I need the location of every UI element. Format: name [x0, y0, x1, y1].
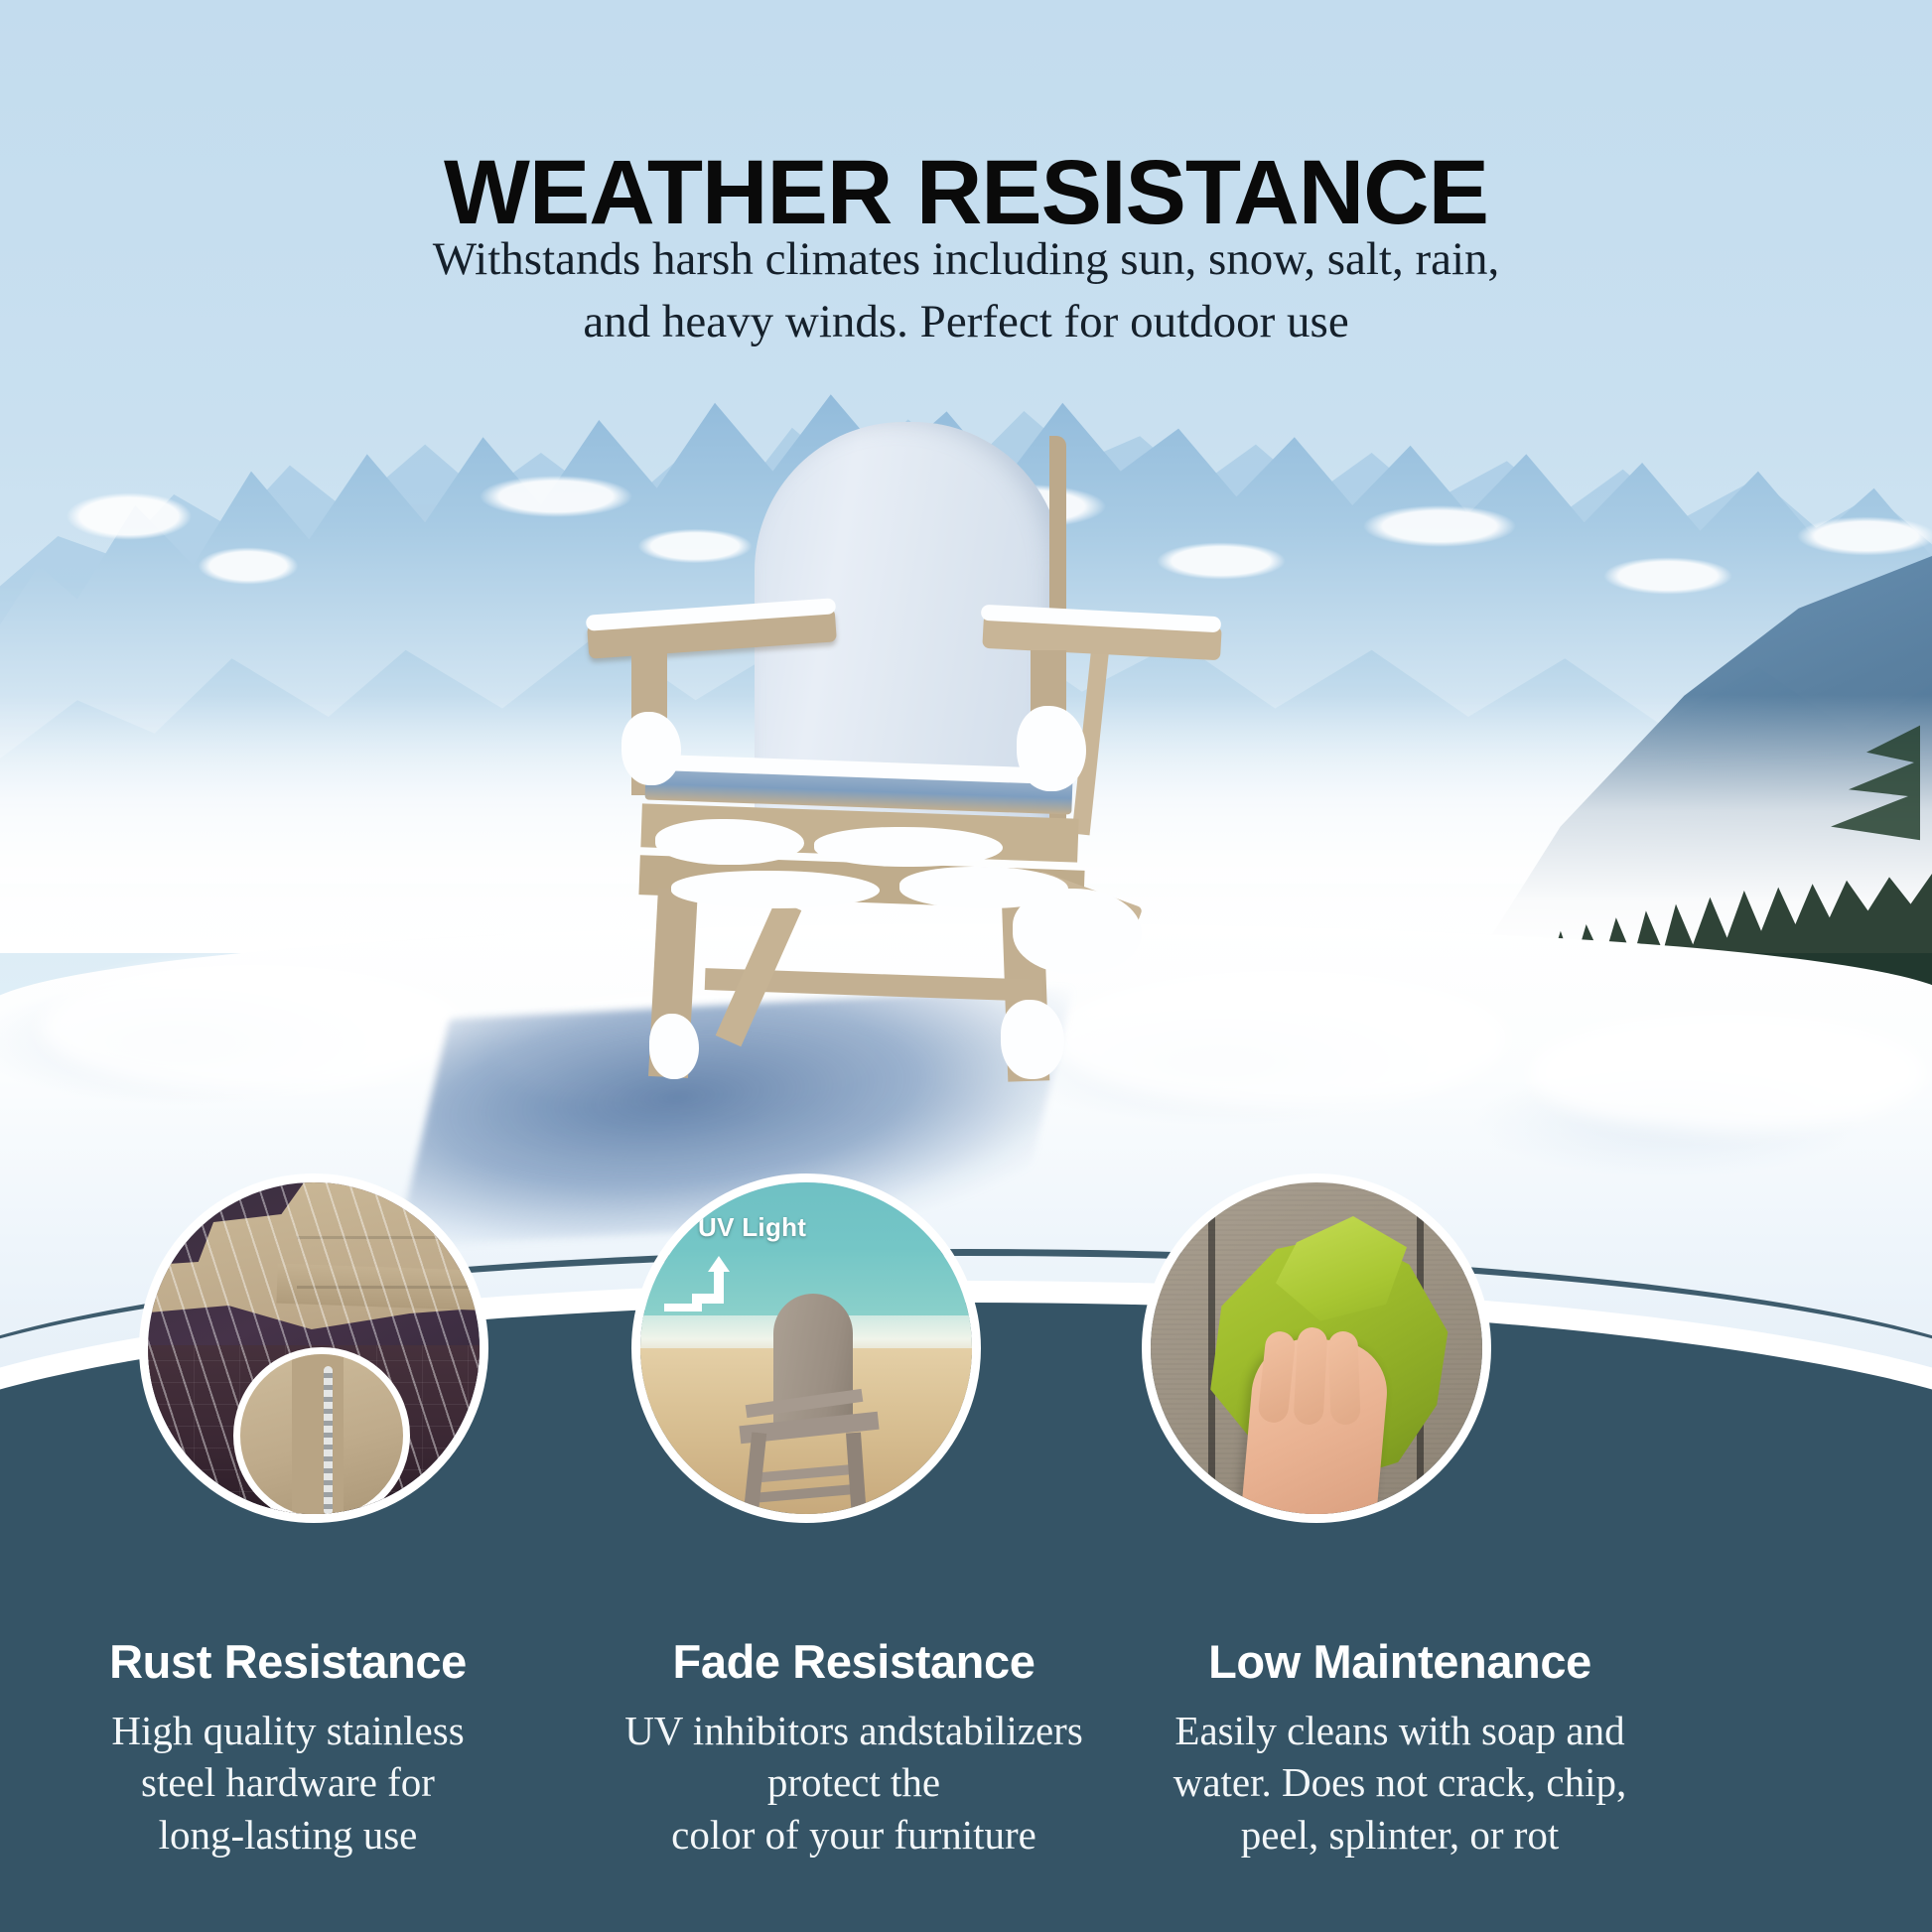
feature-text-fade-resistance: Fade Resistance UV inhibitors andstabili…: [616, 1638, 1092, 1861]
feature-image-rust-resistance: [139, 1173, 488, 1523]
feature-body-line-2: protect the: [767, 1759, 940, 1805]
beach-chair-slat-2: [754, 1483, 865, 1503]
feature-body-line-3: peel, splinter, or rot: [1241, 1812, 1560, 1858]
feature-body-low-maintenance: Easily cleans with soap and water. Does …: [1132, 1705, 1668, 1861]
infographic-canvas: UV Light WEATHER RESISTANCE: [0, 0, 1932, 1932]
feature-body-line-2: steel hardware for: [141, 1759, 435, 1805]
feature-body-line-1: Easily cleans with soap and: [1174, 1708, 1624, 1753]
feature-body-fade-resistance: UV inhibitors andstabilizers protect the…: [616, 1705, 1092, 1861]
subtitle-line-2: and heavy winds. Perfect for outdoor use: [0, 291, 1932, 353]
feature-image-low-maintenance: [1142, 1173, 1491, 1523]
beach-chair-leg-right: [846, 1433, 867, 1519]
feature-text-low-maintenance: Low Maintenance Easily cleans with soap …: [1132, 1638, 1668, 1861]
inset-post: [292, 1354, 344, 1517]
beach-chair: [726, 1294, 902, 1523]
uv-light-label: UV Light: [698, 1212, 806, 1243]
beach-chair-slat-1: [752, 1463, 863, 1483]
feature-title-low-maintenance: Low Maintenance: [1132, 1638, 1668, 1685]
feature-body-line-1: High quality stainless: [111, 1708, 464, 1753]
stainless-chain-icon: [324, 1366, 333, 1515]
surface-seam-left: [1208, 1182, 1215, 1514]
feature-image-fade-resistance: UV Light: [631, 1173, 981, 1523]
page-title: WEATHER RESISTANCE: [0, 147, 1932, 238]
feature-title-rust-resistance: Rust Resistance: [50, 1638, 526, 1685]
feature-body-line-2: water. Does not crack, chip,: [1173, 1759, 1627, 1805]
feature-text-rust-resistance: Rust Resistance High quality stainless s…: [50, 1638, 526, 1861]
subtitle-line-1: Withstands harsh climates including sun,…: [0, 228, 1932, 291]
page-subtitle: Withstands harsh climates including sun,…: [0, 228, 1932, 352]
feature-body-line-1: UV inhibitors andstabilizers: [624, 1708, 1083, 1753]
feature-body-line-3: color of your furniture: [671, 1812, 1036, 1858]
hardware-detail-inset: [233, 1347, 410, 1523]
feature-title-fade-resistance: Fade Resistance: [616, 1638, 1092, 1685]
feature-body-line-3: long-lasting use: [159, 1812, 418, 1858]
feature-body-rust-resistance: High quality stainless steel hardware fo…: [50, 1705, 526, 1861]
